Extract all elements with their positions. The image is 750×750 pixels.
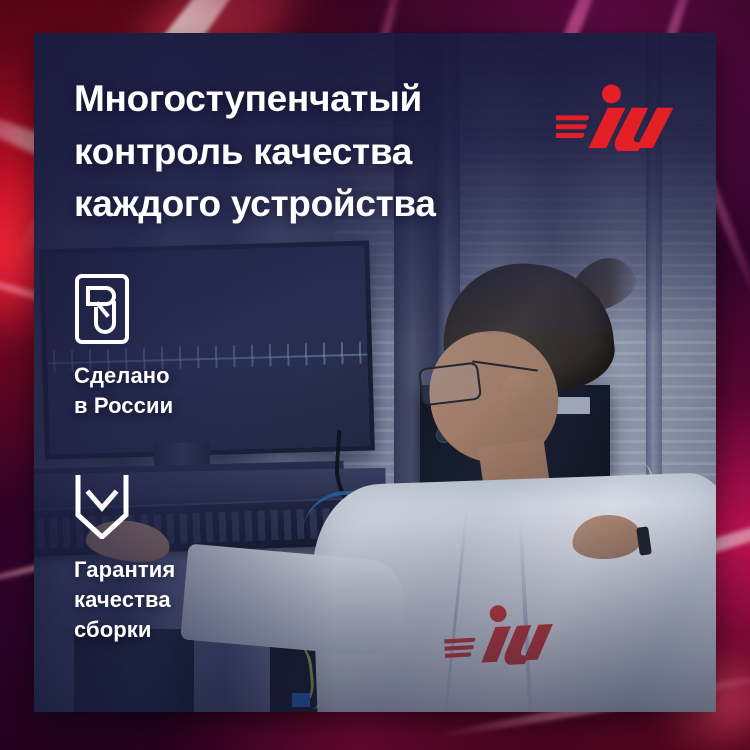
headline-line-1: Многоступенчатый: [74, 73, 514, 126]
promo-poster: Многоступенчатый контроль качества каждо…: [0, 0, 750, 750]
headline-line-3: каждого устройства: [74, 178, 514, 231]
feature-label-line-1: Сделано: [74, 361, 264, 391]
feature-made-in-russia: Сделано в России: [74, 273, 264, 421]
feature-build-quality: Гарантия качества сборки: [74, 473, 264, 645]
iru-logo[interactable]: [556, 81, 682, 155]
feature-label: Сделано в России: [74, 361, 264, 421]
feature-label-line-2: качества: [74, 585, 264, 615]
page-title: Многоступенчатый контроль качества каждо…: [74, 73, 514, 231]
feature-label: Гарантия качества сборки: [74, 555, 264, 645]
feature-label-line-3: сборки: [74, 615, 264, 645]
photo-panel: Многоступенчатый контроль качества каждо…: [34, 33, 716, 712]
poster-content: Многоступенчатый контроль качества каждо…: [34, 33, 716, 712]
feature-label-line-2: в России: [74, 391, 264, 421]
shield-check-icon: [74, 473, 130, 539]
headline-line-2: контроль качества: [74, 126, 514, 179]
ru-mark-icon: [74, 273, 130, 345]
feature-label-line-1: Гарантия: [74, 555, 264, 585]
